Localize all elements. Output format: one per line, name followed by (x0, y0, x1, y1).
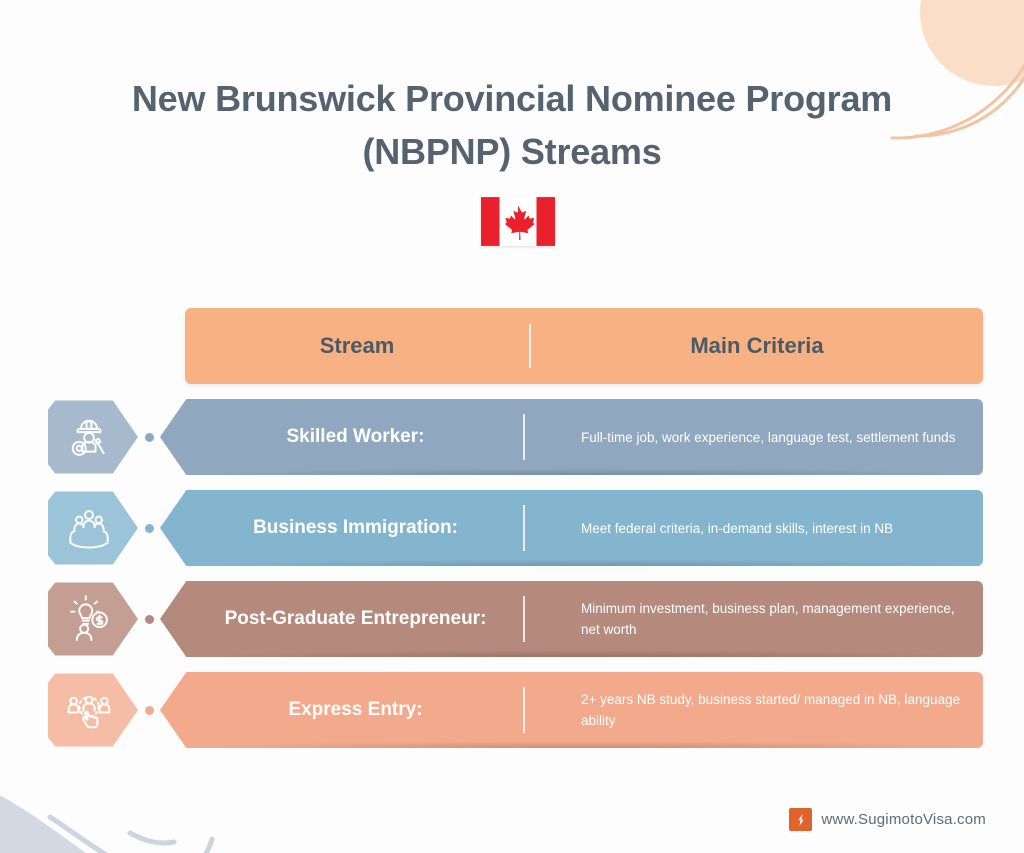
streams-table: Stream Main Criteria (48, 308, 983, 748)
canada-flag-icon (481, 197, 555, 246)
hands-holding-people-icon (63, 502, 115, 554)
page-title-line-1: New Brunswick Provincial Nominee Program (0, 72, 1024, 125)
row-shadow (200, 468, 973, 482)
row-connector (138, 706, 160, 715)
connector-dot (145, 706, 154, 715)
people-selection-hand-icon (63, 684, 115, 736)
row-badge (48, 672, 138, 748)
row-criteria-text: Meet federal criteria, in-demand skills,… (525, 518, 983, 539)
row-bar[interactable]: Business Immigration: Meet federal crite… (160, 490, 983, 566)
lightbulb-money-person-icon (63, 593, 115, 645)
connector-dot (145, 615, 154, 624)
row-badge (48, 581, 138, 657)
row-criteria-text: Full-time job, work experience, language… (525, 427, 983, 448)
row-badge (48, 490, 138, 566)
row-bar[interactable]: Skilled Worker: Full-time job, work expe… (160, 399, 983, 475)
construction-worker-icon (63, 411, 115, 463)
row-stream-label: Express Entry: (188, 699, 523, 721)
row-connector (138, 433, 160, 442)
table-row[interactable]: Skilled Worker: Full-time job, work expe… (48, 399, 983, 475)
row-stream-label: Business Immigration: (188, 517, 523, 539)
row-criteria-text: Minimum investment, business plan, manag… (525, 598, 983, 640)
row-stream-label: Post-Graduate Entrepreneur: (188, 608, 523, 630)
header-stream-label: Stream (185, 333, 529, 359)
row-connector (138, 524, 160, 533)
row-connector (138, 615, 160, 624)
row-bar[interactable]: Express Entry: 2+ years NB study, busine… (160, 672, 983, 748)
sugimoto-visa-logo-icon (789, 808, 812, 831)
page-title: New Brunswick Provincial Nominee Program… (0, 72, 1024, 178)
table-row[interactable]: Express Entry: 2+ years NB study, busine… (48, 672, 983, 748)
table-row[interactable]: Post-Graduate Entrepreneur: Minimum inve… (48, 581, 983, 657)
row-shadow (200, 741, 973, 755)
row-bar[interactable]: Post-Graduate Entrepreneur: Minimum inve… (160, 581, 983, 657)
row-badge (48, 399, 138, 475)
table-header-row: Stream Main Criteria (185, 308, 983, 384)
row-shadow (200, 559, 973, 573)
footer[interactable]: www.SugimotoVisa.com (789, 808, 986, 831)
page-title-line-2: (NBPNP) Streams (0, 125, 1024, 178)
connector-dot (145, 524, 154, 533)
row-shadow (200, 650, 973, 664)
table-row[interactable]: Business Immigration: Meet federal crite… (48, 490, 983, 566)
connector-dot (145, 433, 154, 442)
row-stream-label: Skilled Worker: (188, 426, 523, 448)
footer-website-url[interactable]: www.SugimotoVisa.com (821, 811, 986, 828)
row-criteria-text: 2+ years NB study, business started/ man… (525, 689, 983, 731)
infographic-canvas: New Brunswick Provincial Nominee Program… (0, 0, 1024, 853)
header-criteria-label: Main Criteria (531, 333, 983, 359)
